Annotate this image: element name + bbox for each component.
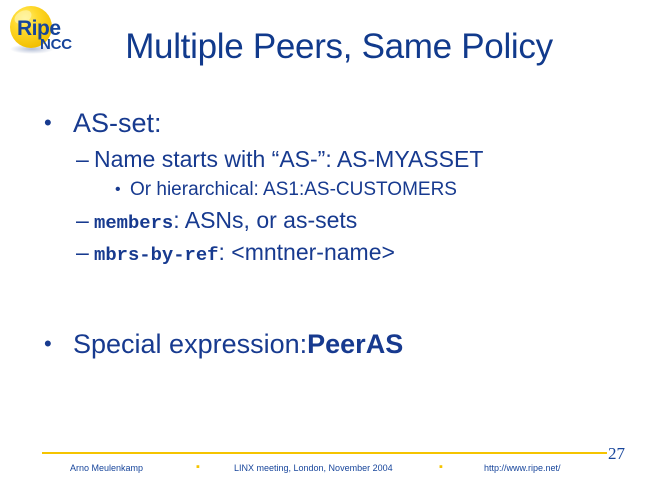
bullet-text: Or hierarchical: AS1:AS-CUSTOMERS [130, 176, 457, 204]
footer-author: Arno Meulenkamp [70, 461, 143, 475]
bullet-marker: • [115, 176, 121, 204]
footer-event: LINX meeting, London, November 2004 [234, 461, 393, 475]
slide-body: • AS-set: – Name starts with “AS-”: AS-M… [0, 104, 650, 365]
footer-separator-icon: ▪ [196, 461, 200, 474]
bullet-marker: • [44, 325, 52, 363]
bullet-marker: – [76, 205, 89, 236]
page-title: Multiple Peers, Same Policy [0, 27, 650, 67]
bullet-text: AS-set: [73, 104, 162, 142]
vertical-spacer [0, 269, 650, 325]
footer-separator-icon: ▪ [439, 461, 443, 474]
bullet-text: Name starts with “AS-”: AS-MYASSET [94, 144, 483, 175]
footer-divider [42, 452, 607, 454]
bullet-marker: – [76, 144, 89, 175]
bullet-item: • AS-set: [0, 104, 650, 144]
bullet-marker: – [76, 237, 89, 268]
bullet-item: – Name starts with “AS-”: AS-MYASSET [0, 144, 650, 176]
bullet-item: – mbrs-by-ref: <mntner-name> [0, 237, 650, 269]
slide-canvas: Ripe NCC Multiple Peers, Same Policy • A… [0, 0, 650, 488]
bullet-item: • Special expression: PeerAS [0, 325, 650, 365]
keyword-mbrs-by-ref: mbrs-by-ref [94, 240, 219, 271]
keyword-members: members [94, 208, 173, 239]
slide-footer: Arno Meulenkamp ▪ LINX meeting, London, … [0, 461, 650, 479]
bullet-text: : <mntner-name> [219, 237, 395, 268]
bullet-item: – members: ASNs, or as-sets [0, 205, 650, 237]
bullet-marker: • [44, 104, 52, 142]
bullet-text: Special expression: [73, 325, 307, 363]
bullet-item: • Or hierarchical: AS1:AS-CUSTOMERS [0, 176, 650, 205]
keyword-peeras: PeerAS [307, 325, 403, 363]
bullet-text: : ASNs, or as-sets [173, 205, 357, 236]
footer-url[interactable]: http://www.ripe.net/ [484, 461, 561, 475]
